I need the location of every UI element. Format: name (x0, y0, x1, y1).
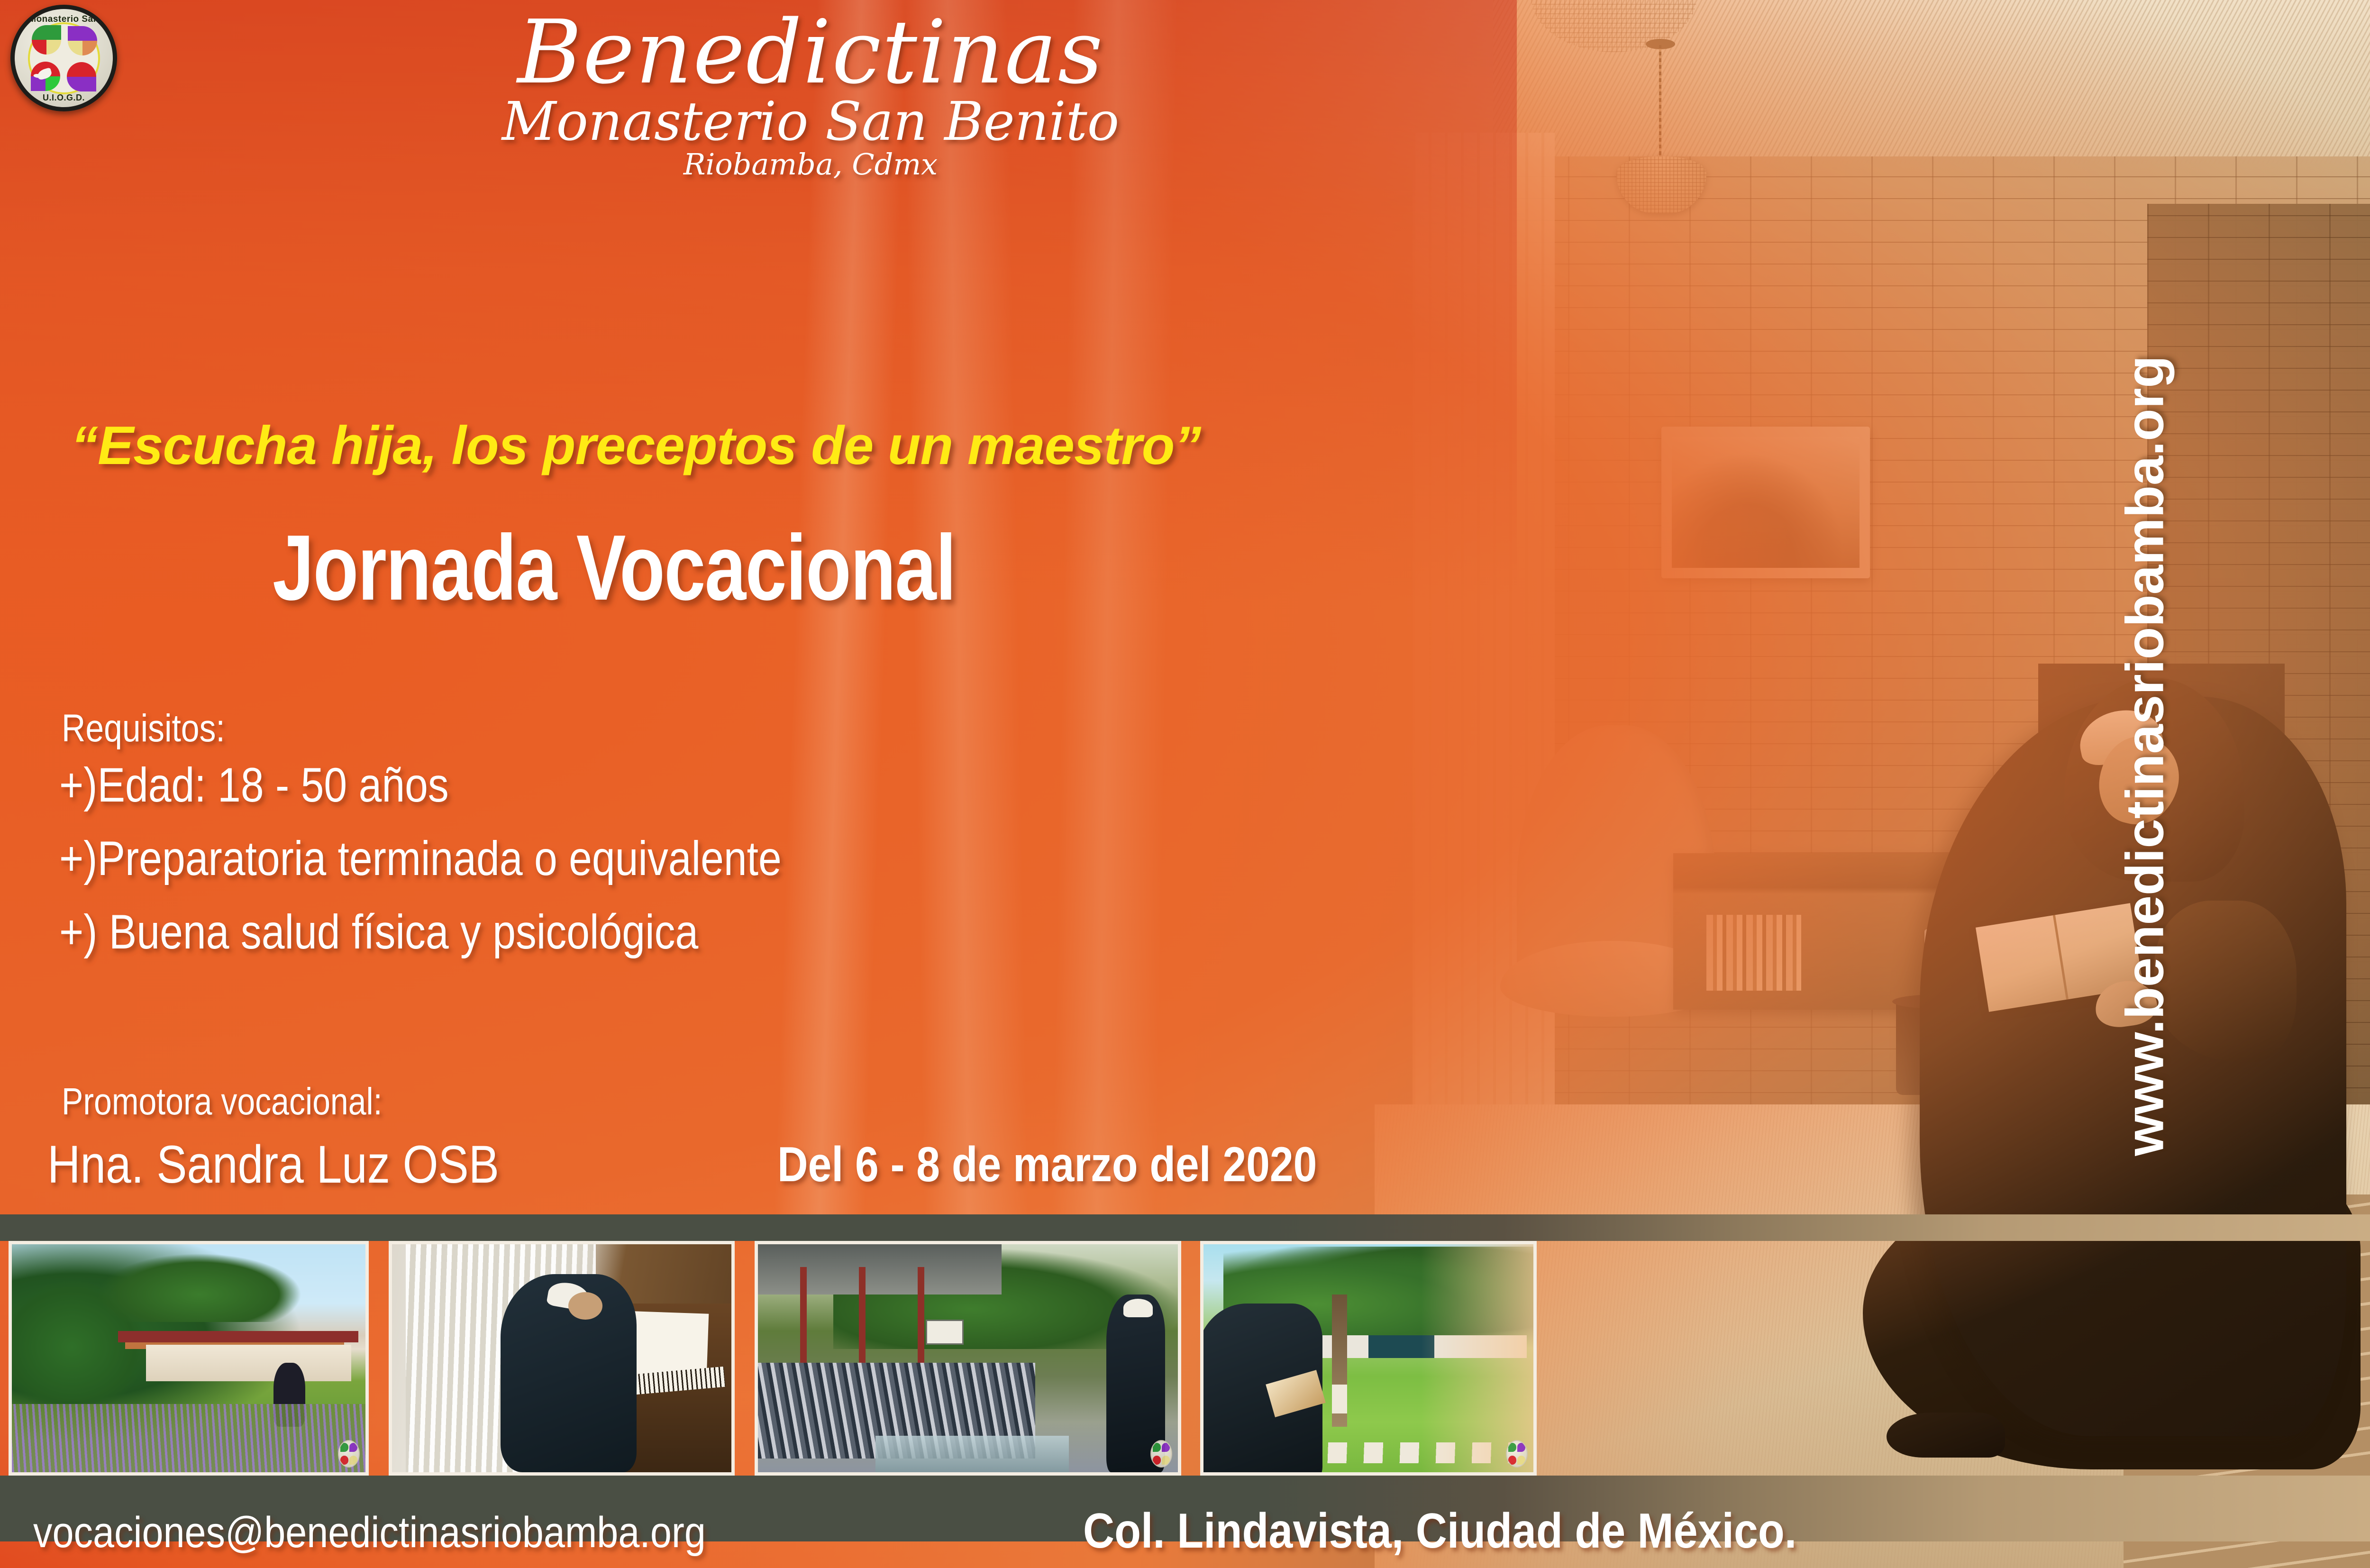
event-dates: Del 6 - 8 de marzo del 2020 (777, 1137, 1317, 1193)
brand-name: Benedictinas (360, 10, 1261, 95)
photo-2-nun-face (568, 1292, 602, 1320)
photo-1-tree (97, 1253, 302, 1322)
photo-nun-reading-in-garden (1200, 1241, 1537, 1476)
contact-email[interactable]: vocaciones@benedictinasriobamba.org (33, 1508, 706, 1558)
logo-emblem-icon (28, 22, 100, 94)
brand-subtitle: Monasterio San Benito (360, 97, 1261, 148)
list-item: +)Edad: 18 - 50 años (59, 757, 782, 813)
photo-nun-playing-organ (389, 1241, 735, 1476)
requirements-label: Requisitos: (62, 706, 225, 751)
photo-strip (0, 1241, 2370, 1476)
photo-3-canopy-roof (758, 1244, 1002, 1295)
photo-1-arcade (146, 1345, 351, 1381)
promoter-label: Promotora vocacional: (62, 1080, 383, 1123)
footer-bar: vocaciones@benedictinasriobamba.org Col.… (0, 1502, 2370, 1568)
photo-watermark-logo (338, 1440, 360, 1468)
photo-monastery-garden-lavender (9, 1241, 369, 1476)
vocation-poster: Monasterio San Benito (0, 0, 2370, 1568)
photo-3-glass-rail (875, 1436, 1069, 1472)
photo-4-sun-glare (1421, 1244, 1533, 1472)
photo-3-nun-coif (1123, 1299, 1153, 1317)
logo-bottom-text: U.I.O.G.D. (15, 93, 113, 103)
contact-address: Col. Lindavista, Ciudad de México. (1083, 1503, 1796, 1559)
photo-1-lavender-field (12, 1404, 365, 1472)
logo-petal-top-left (32, 25, 61, 55)
logo-petal-bottom-left (31, 62, 60, 91)
promoter-name: Hna. Sandra Luz OSB (47, 1134, 499, 1195)
photo-4-tree-trunk (1332, 1295, 1347, 1427)
photo-students-assembly-with-nun (755, 1241, 1181, 1476)
photo-3-basketball-hoop (926, 1320, 964, 1345)
requirements-list: +)Edad: 18 - 50 años +)Preparatoria term… (59, 757, 899, 978)
list-item: +)Preparatoria terminada o equivalente (59, 831, 782, 886)
quote-text: “Escucha hija, los preceptos de un maest… (71, 415, 1201, 477)
photo-watermark-logo (1506, 1440, 1528, 1468)
page-title: Jornada Vocacional (273, 514, 956, 621)
divider-top (0, 1214, 2370, 1241)
photo-2-sheet-music (632, 1312, 709, 1378)
brand-location: Riobamba, Cdmx (360, 150, 1261, 179)
photo-watermark-logo (1150, 1440, 1172, 1468)
logo-petal-top-right (68, 26, 97, 55)
monastery-logo: Monasterio San Benito (10, 5, 117, 111)
logo-petal-bottom-right (67, 62, 96, 91)
brand-header: Benedictinas Monasterio San Benito Rioba… (360, 10, 1261, 179)
website-url-vertical[interactable]: www.benedictinasriobamba.org (2115, 116, 2176, 1396)
list-item: +) Buena salud física y psicológica (59, 904, 782, 960)
photo-1-roof (118, 1331, 358, 1342)
